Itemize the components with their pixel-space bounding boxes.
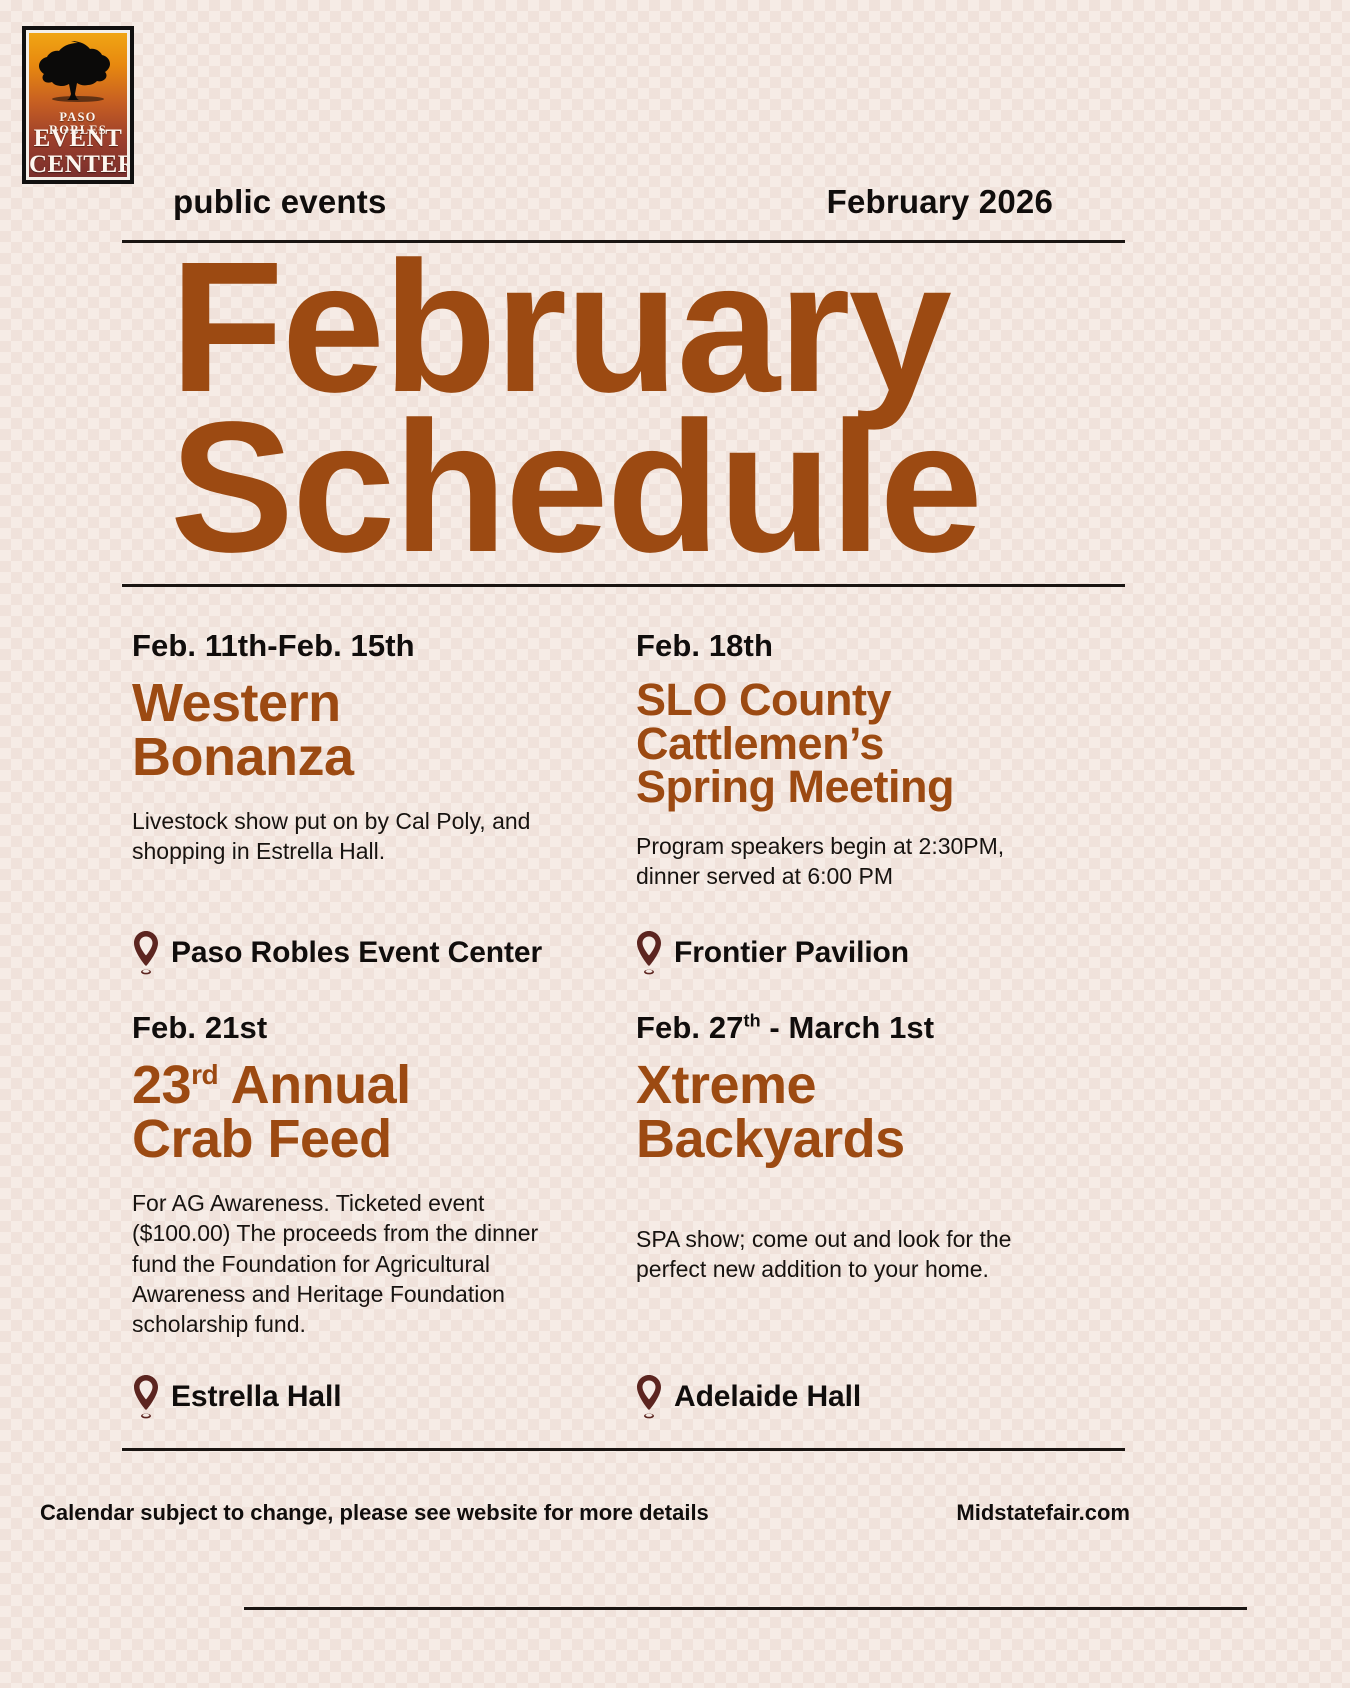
map-pin-icon xyxy=(635,930,663,976)
events-row-1: Feb. 11th-Feb. 15th Western Bonanza Live… xyxy=(122,612,1128,994)
logo-line-3: CENTER xyxy=(29,152,127,177)
event-title-line-2: Cattlemen’s xyxy=(636,722,1128,766)
divider-under-title xyxy=(122,584,1125,587)
event-location-name: Estrella Hall xyxy=(171,1380,341,1414)
divider-bottom xyxy=(122,1448,1125,1451)
event-title-number: 23 xyxy=(132,1055,191,1115)
event-date-ordinal-suffix: th xyxy=(744,1011,761,1031)
flyer-page: PASO ROBLES EVENT CENTER public events F… xyxy=(0,0,1350,1688)
event-location-name: Paso Robles Event Center xyxy=(171,936,542,970)
event-title-line-2: Crab Feed xyxy=(132,1112,625,1166)
event-location: Frontier Pavilion xyxy=(635,930,909,976)
event-description: SPA show; come out and look for the perf… xyxy=(636,1224,1056,1285)
event-card-western-bonanza: Feb. 11th-Feb. 15th Western Bonanza Live… xyxy=(122,612,625,994)
event-title: Western Bonanza xyxy=(132,676,625,784)
map-pin-icon xyxy=(635,1374,663,1420)
event-location-name: Adelaide Hall xyxy=(674,1380,861,1414)
event-description: Livestock show put on by Cal Poly, and s… xyxy=(132,806,552,867)
event-location-name: Frontier Pavilion xyxy=(674,936,909,970)
event-title-line-1: Western xyxy=(132,676,625,730)
event-date-prefix: Feb. 27 xyxy=(636,1010,744,1045)
event-title-line-1-rest: Annual xyxy=(218,1055,411,1115)
event-location: Paso Robles Event Center xyxy=(132,930,542,976)
event-title-line-1: Xtreme xyxy=(636,1058,1128,1112)
event-card-slo-county-cattlemens-spring-meeting: Feb. 18th SLO County Cattlemen’s Spring … xyxy=(625,612,1128,994)
event-title-line-2: Backyards xyxy=(636,1112,1128,1166)
header-bar: public events February 2026 xyxy=(173,183,1053,221)
event-date: Feb. 27th - March 1st xyxy=(636,1010,1128,1046)
event-title-line-3: Spring Meeting xyxy=(636,765,1128,809)
footer-website[interactable]: Midstatefair.com xyxy=(956,1500,1130,1526)
event-date-rest: - March 1st xyxy=(761,1010,934,1045)
event-description: For AG Awareness. Ticketed event ($100.0… xyxy=(132,1188,552,1340)
event-title-line-2: Bonanza xyxy=(132,730,625,784)
event-location: Adelaide Hall xyxy=(635,1374,861,1420)
event-title-line-1: SLO County xyxy=(636,678,1128,722)
logo-line-2: EVENT xyxy=(29,126,127,151)
event-title: Xtreme Backyards xyxy=(636,1058,1128,1166)
paso-robles-event-center-logo: PASO ROBLES EVENT CENTER xyxy=(22,26,134,184)
event-description: Program speakers begin at 2:30PM, dinner… xyxy=(636,831,1056,892)
header-section-label: public events xyxy=(173,183,387,221)
event-date: Feb. 21st xyxy=(132,1010,625,1046)
event-title-line-1: 23rd Annual xyxy=(132,1058,625,1112)
footer-disclaimer: Calendar subject to change, please see w… xyxy=(40,1500,709,1526)
map-pin-icon xyxy=(132,1374,160,1420)
events-row-2: Feb. 21st 23rd Annual Crab Feed For AG A… xyxy=(122,994,1128,1446)
logo-inner-panel: PASO ROBLES EVENT CENTER xyxy=(26,30,130,180)
event-date: Feb. 11th-Feb. 15th xyxy=(132,628,625,664)
event-card-xtreme-backyards: Feb. 27th - March 1st Xtreme Backyards S… xyxy=(625,994,1128,1446)
page-title-line-2: Schedule xyxy=(170,408,1150,568)
oak-tree-icon xyxy=(35,41,121,103)
event-location: Estrella Hall xyxy=(132,1374,341,1420)
event-date: Feb. 18th xyxy=(636,628,1128,664)
map-pin-icon xyxy=(132,930,160,976)
divider-middle xyxy=(244,1607,1247,1610)
page-title: February Schedule xyxy=(170,248,1150,568)
header-month-label: February 2026 xyxy=(827,183,1053,221)
footer-bar: Calendar subject to change, please see w… xyxy=(40,1500,1130,1526)
events-grid: Feb. 11th-Feb. 15th Western Bonanza Live… xyxy=(122,612,1128,1446)
event-title-ordinal-suffix: rd xyxy=(191,1059,218,1090)
event-card-23rd-annual-crab-feed: Feb. 21st 23rd Annual Crab Feed For AG A… xyxy=(122,994,625,1446)
event-title: 23rd Annual Crab Feed xyxy=(132,1058,625,1166)
event-title: SLO County Cattlemen’s Spring Meeting xyxy=(636,678,1128,809)
